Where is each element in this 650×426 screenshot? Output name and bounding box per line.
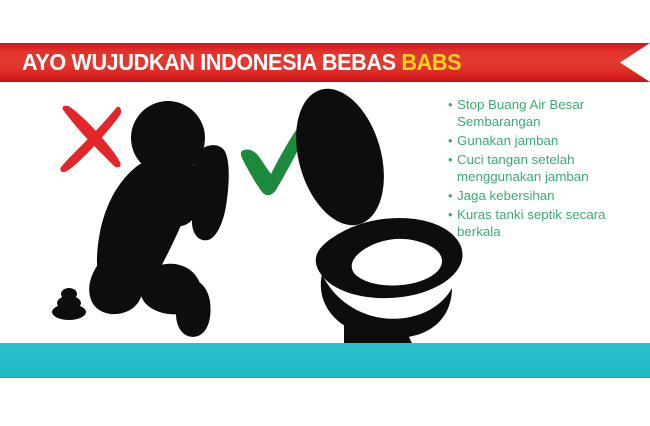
bullet-dot-icon: • xyxy=(448,96,456,113)
red-cross-mark xyxy=(60,106,121,172)
list-item-label: Kuras tanki septik secara berkala xyxy=(457,206,648,240)
toilet-silhouette xyxy=(281,82,462,343)
list-item-label: Cuci tangan setelah menggunakan jamban xyxy=(457,151,648,185)
poster-root: AYO WUJUDKAN INDONESIA BEBAS BABS xyxy=(0,0,650,426)
list-item: • Jaga kebersihan xyxy=(448,187,648,204)
banner-title-main: AYO WUJUDKAN INDONESIA BEBAS xyxy=(22,49,401,75)
list-item-label: Stop Buang Air Besar Sembarangan xyxy=(457,96,648,130)
list-item: • Gunakan jamban xyxy=(448,132,648,149)
list-item-label: Jaga kebersihan xyxy=(457,187,648,204)
bullet-dot-icon: • xyxy=(448,187,456,204)
banner-title-highlight: BABS xyxy=(401,49,461,75)
list-item: • Cuci tangan setelah menggunakan jamban xyxy=(448,151,648,185)
list-item: • Kuras tanki septik secara berkala xyxy=(448,206,648,240)
list-item-label: Gunakan jamban xyxy=(457,132,648,149)
squatting-person-silhouette xyxy=(89,101,229,337)
banner-title: AYO WUJUDKAN INDONESIA BEBAS BABS xyxy=(22,43,461,82)
list-item: • Stop Buang Air Besar Sembarangan xyxy=(448,96,648,130)
bullet-dot-icon: • xyxy=(448,151,456,168)
header-banner: AYO WUJUDKAN INDONESIA BEBAS BABS xyxy=(0,43,650,82)
benefits-list: • Stop Buang Air Besar Sembarangan • Gun… xyxy=(448,96,648,242)
bullet-dot-icon: • xyxy=(448,206,456,223)
bullet-dot-icon: • xyxy=(448,132,456,149)
footer-accent-bar xyxy=(0,343,650,378)
feces-pile-icon xyxy=(52,288,86,320)
